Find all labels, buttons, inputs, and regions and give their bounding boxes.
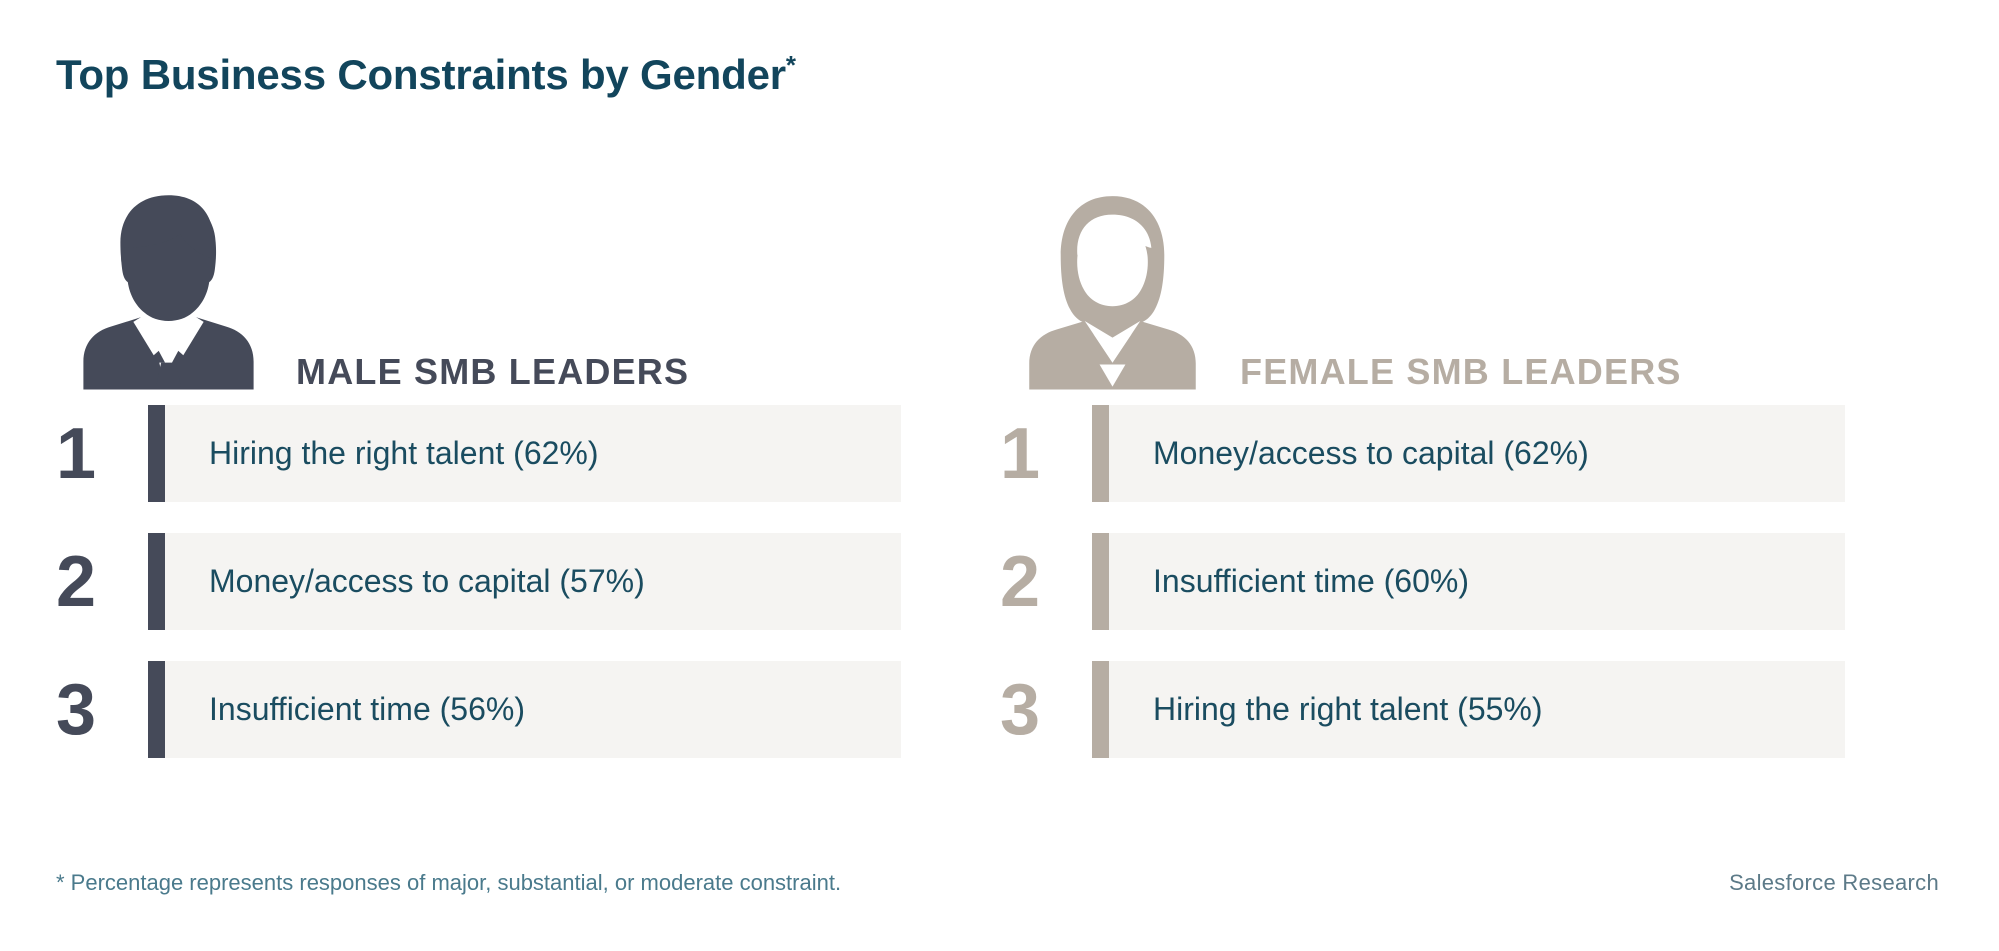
constraint-label: Money/access to capital (57%) — [165, 563, 645, 600]
female-avatar-icon — [1020, 190, 1205, 390]
constraint-label: Money/access to capital (62%) — [1109, 435, 1589, 472]
column-male: MALE SMB LEADERS 1 Hiring the right tale… — [56, 190, 901, 405]
table-row: 3 Hiring the right talent (55%) — [1000, 661, 1845, 758]
constraint-band: Hiring the right talent (55%) — [1092, 661, 1845, 758]
constraint-band: Insufficient time (60%) — [1092, 533, 1845, 630]
footnote: * Percentage represents responses of maj… — [56, 870, 841, 896]
rank-number: 2 — [56, 546, 130, 618]
rank-number: 2 — [1000, 546, 1074, 618]
constraint-label: Hiring the right talent (62%) — [165, 435, 599, 472]
rank-number: 1 — [56, 418, 130, 490]
rank-number: 3 — [1000, 674, 1074, 746]
rows-male: 1 Hiring the right talent (62%) 2 Money/… — [56, 405, 901, 789]
rank-number: 1 — [1000, 418, 1074, 490]
constraint-label: Hiring the right talent (55%) — [1109, 691, 1543, 728]
constraint-band: Insufficient time (56%) — [148, 661, 901, 758]
accent-bar — [148, 661, 165, 758]
constraint-label: Insufficient time (56%) — [165, 691, 525, 728]
accent-bar — [1092, 661, 1109, 758]
column-header-female: FEMALE SMB LEADERS — [1000, 190, 1845, 405]
page-title-text: Top Business Constraints by Gender — [56, 51, 786, 98]
table-row: 1 Hiring the right talent (62%) — [56, 405, 901, 502]
table-row: 3 Insufficient time (56%) — [56, 661, 901, 758]
accent-bar — [1092, 533, 1109, 630]
table-row: 2 Money/access to capital (57%) — [56, 533, 901, 630]
infographic-root: Top Business Constraints by Gender* — [0, 0, 1999, 951]
constraint-band: Money/access to capital (62%) — [1092, 405, 1845, 502]
column-heading-female: FEMALE SMB LEADERS — [1240, 351, 1682, 393]
accent-bar — [148, 405, 165, 502]
accent-bar — [148, 533, 165, 630]
accent-bar — [1092, 405, 1109, 502]
constraint-label: Insufficient time (60%) — [1109, 563, 1469, 600]
column-heading-male: MALE SMB LEADERS — [296, 351, 689, 393]
attribution: Salesforce Research — [1729, 870, 1939, 896]
column-female: FEMALE SMB LEADERS 1 Money/access to cap… — [1000, 190, 1845, 405]
male-avatar-icon — [76, 190, 261, 390]
page-title: Top Business Constraints by Gender* — [56, 50, 796, 99]
table-row: 2 Insufficient time (60%) — [1000, 533, 1845, 630]
column-header-male: MALE SMB LEADERS — [56, 190, 901, 405]
rows-female: 1 Money/access to capital (62%) 2 Insuff… — [1000, 405, 1845, 789]
title-asterisk: * — [786, 50, 796, 80]
table-row: 1 Money/access to capital (62%) — [1000, 405, 1845, 502]
rank-number: 3 — [56, 674, 130, 746]
constraint-band: Hiring the right talent (62%) — [148, 405, 901, 502]
constraint-band: Money/access to capital (57%) — [148, 533, 901, 630]
